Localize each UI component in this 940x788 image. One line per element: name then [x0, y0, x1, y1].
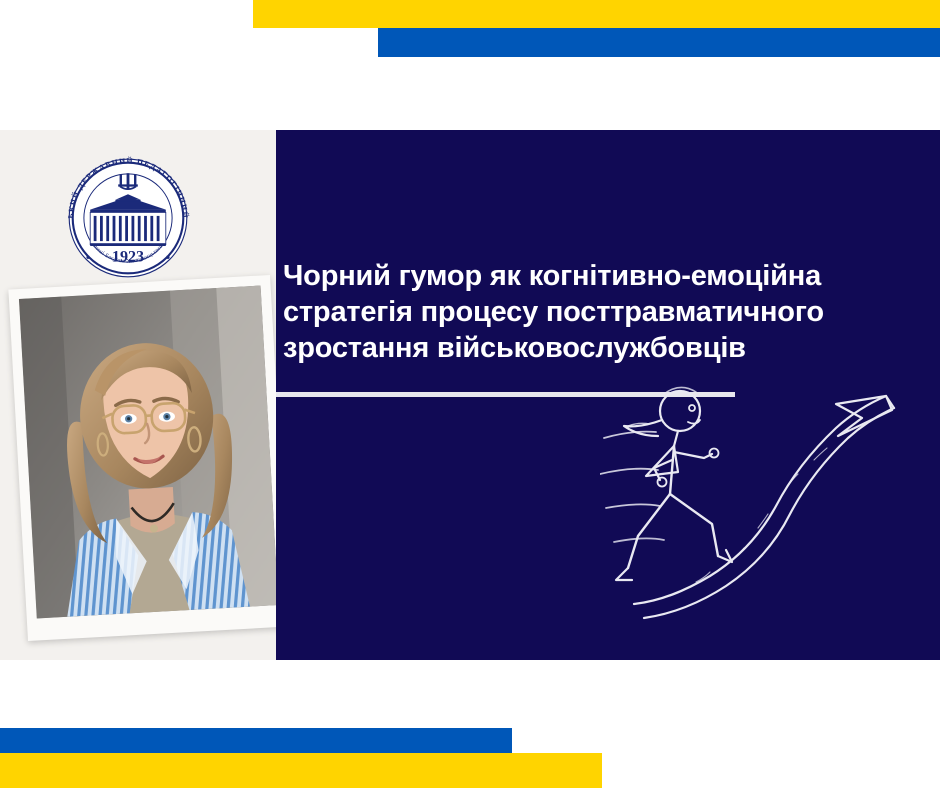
university-emblem-logo: МЕЛІТОПОЛЬСЬКИЙ ДЕРЖАВНИЙ ПЕДАГОГІЧНИЙ У… [58, 148, 198, 288]
top-yellow-accent-bar [253, 0, 940, 28]
trident-icon [118, 173, 138, 190]
running-person-growth-arrow-doodle [600, 368, 910, 628]
bottom-yellow-accent-bar [0, 753, 602, 788]
emblem-year: 1923 [112, 248, 144, 265]
title-block: Чорний гумор як когнітивно-емоційна стра… [283, 258, 883, 366]
page-title: Чорний гумор як когнітивно-емоційна стра… [283, 258, 883, 366]
bottom-blue-accent-bar [0, 728, 512, 754]
top-blue-accent-bar [378, 28, 940, 57]
speaker-portrait-photo [19, 286, 278, 619]
speaker-photo-frame [8, 275, 289, 641]
